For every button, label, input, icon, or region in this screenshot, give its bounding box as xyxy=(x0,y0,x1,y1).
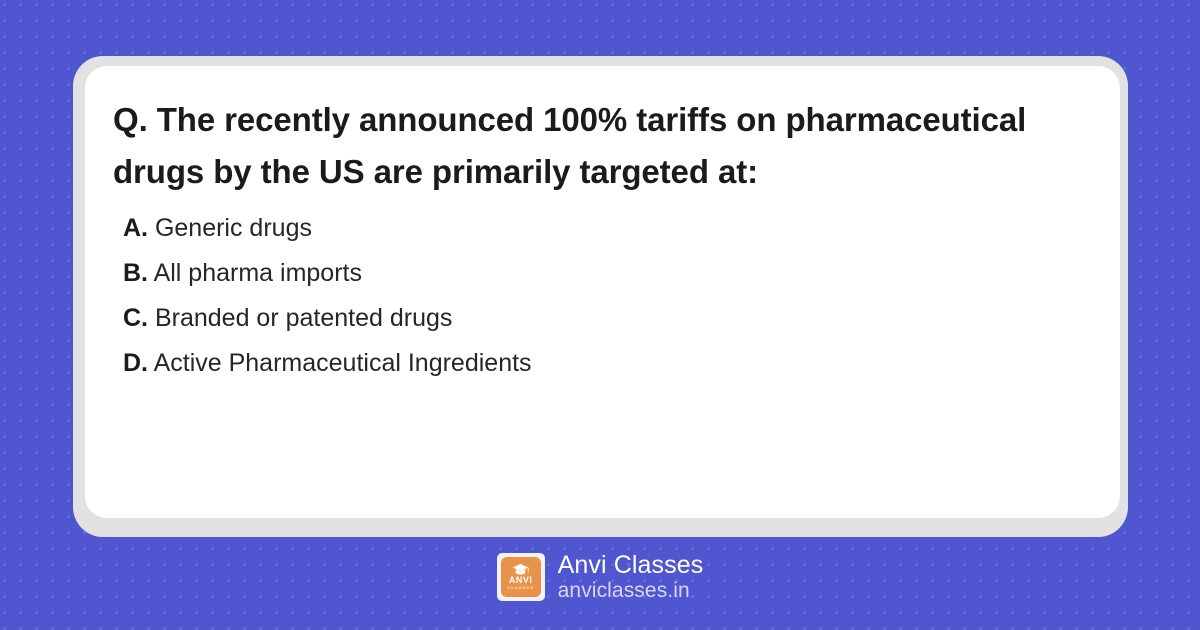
option-a-text: Generic drugs xyxy=(155,214,312,242)
option-b-text: All pharma imports xyxy=(154,259,362,287)
footer-branding: ANVI CLASSES Anvi Classes anviclasses.in xyxy=(0,546,1200,608)
option-a[interactable]: A. Generic drugs xyxy=(123,216,1094,241)
option-d-letter: D. xyxy=(123,349,148,377)
brand-logo-subtitle: CLASSES xyxy=(507,586,534,590)
question-text: Q. The recently announced 100% tariffs o… xyxy=(111,94,1094,198)
option-b[interactable]: B. All pharma imports xyxy=(123,261,1094,286)
option-b-letter: B. xyxy=(123,259,148,287)
option-c-text: Branded or patented drugs xyxy=(155,304,452,332)
brand-url[interactable]: anviclasses.in xyxy=(558,579,704,603)
question-card: Q. The recently announced 100% tariffs o… xyxy=(85,66,1120,518)
brand-logo-name: ANVI xyxy=(509,576,533,585)
option-c[interactable]: C. Branded or patented drugs xyxy=(123,306,1094,331)
option-c-letter: C. xyxy=(123,304,148,332)
brand-logo: ANVI CLASSES xyxy=(497,553,545,601)
option-a-letter: A. xyxy=(123,214,148,242)
option-d-text: Active Pharmaceutical Ingredients xyxy=(154,349,532,377)
graduation-cap-icon xyxy=(512,564,529,575)
question-card-shadow: Q. The recently announced 100% tariffs o… xyxy=(73,56,1128,537)
options-list: A. Generic drugs B. All pharma imports C… xyxy=(111,216,1094,376)
brand-logo-tile: ANVI CLASSES xyxy=(501,557,541,597)
option-d[interactable]: D. Active Pharmaceutical Ingredients xyxy=(123,351,1094,376)
brand-text-block: Anvi Classes anviclasses.in xyxy=(558,551,704,603)
brand-name: Anvi Classes xyxy=(558,551,704,579)
